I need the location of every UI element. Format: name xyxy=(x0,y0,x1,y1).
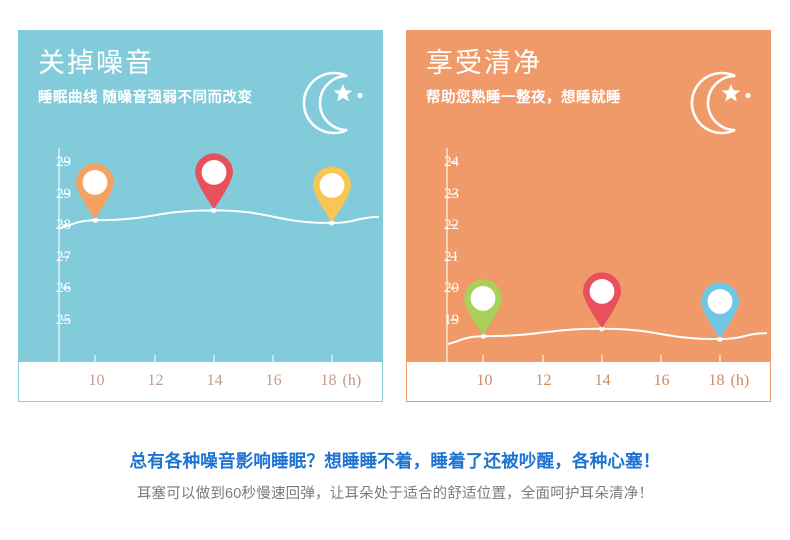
panel-left-turn-off-noise: 关掉噪音 睡眠曲线 随噪音强弱不同而改变 292928272625 101214… xyxy=(18,30,383,402)
crescent-moon-star-icon xyxy=(291,60,369,138)
x-tick-label-18: 18 (h) xyxy=(709,372,750,390)
x-tick-labels-right: 1012141618 (h) xyxy=(449,362,766,401)
x-tick-label-14: 14 xyxy=(207,372,223,390)
panel-left-header: 关掉噪音 睡眠曲线 随噪音强弱不同而改变 xyxy=(18,30,383,148)
map-pin-marker[interactable] xyxy=(580,271,624,329)
comparison-panels: 关掉噪音 睡眠曲线 随噪音强弱不同而改变 292928272625 101214… xyxy=(0,0,790,430)
panel-right-enjoy-quiet: 享受清净 帮助您熟睡一整夜，想睡就睡 242322212019 10121416… xyxy=(406,30,771,402)
x-tick-label-10: 10 xyxy=(88,372,104,390)
panel-right-chart: 242322212019 xyxy=(406,148,771,362)
map-pin-marker[interactable] xyxy=(192,152,236,210)
x-tick-labels-left: 1012141618 (h) xyxy=(61,362,378,401)
panel-right-header: 享受清净 帮助您熟睡一整夜，想睡就睡 xyxy=(406,30,771,148)
footer-headline: 总有各种噪音影响睡眠？想睡睡不着，睡着了还被吵醒，各种心塞！ xyxy=(0,448,790,474)
x-tick-label-12: 12 xyxy=(536,372,552,390)
map-pin-marker[interactable] xyxy=(310,165,354,223)
panel-left-chart: 292928272625 xyxy=(18,148,383,362)
footer-text-block: 总有各种噪音影响睡眠？想睡睡不着，睡着了还被吵醒，各种心塞！ 耳塞可以做到60秒… xyxy=(0,448,790,506)
map-pin-marker[interactable] xyxy=(73,162,117,220)
x-tick-label-18: 18 (h) xyxy=(321,372,362,390)
x-tick-label-16: 16 xyxy=(654,372,670,390)
x-axis-unit: (h) xyxy=(339,372,362,389)
plot-area-right xyxy=(448,148,767,362)
x-axis-strip-left: 1012141618 (h) xyxy=(18,362,383,402)
crescent-moon-star-icon xyxy=(679,60,757,138)
x-tick-label-12: 12 xyxy=(148,372,164,390)
x-axis-strip-right: 1012141618 (h) xyxy=(406,362,771,402)
map-pin-marker[interactable] xyxy=(698,281,742,339)
plot-area-left xyxy=(60,148,379,362)
map-pin-marker[interactable] xyxy=(461,278,505,336)
x-tick-label-10: 10 xyxy=(476,372,492,390)
x-tick-label-14: 14 xyxy=(595,372,611,390)
x-tick-label-16: 16 xyxy=(266,372,282,390)
x-axis-unit: (h) xyxy=(727,372,750,389)
footer-subline: 耳塞可以做到60秒慢速回弹，让耳朵处于适合的舒适位置，全面呵护耳朵清净！ xyxy=(0,482,790,506)
